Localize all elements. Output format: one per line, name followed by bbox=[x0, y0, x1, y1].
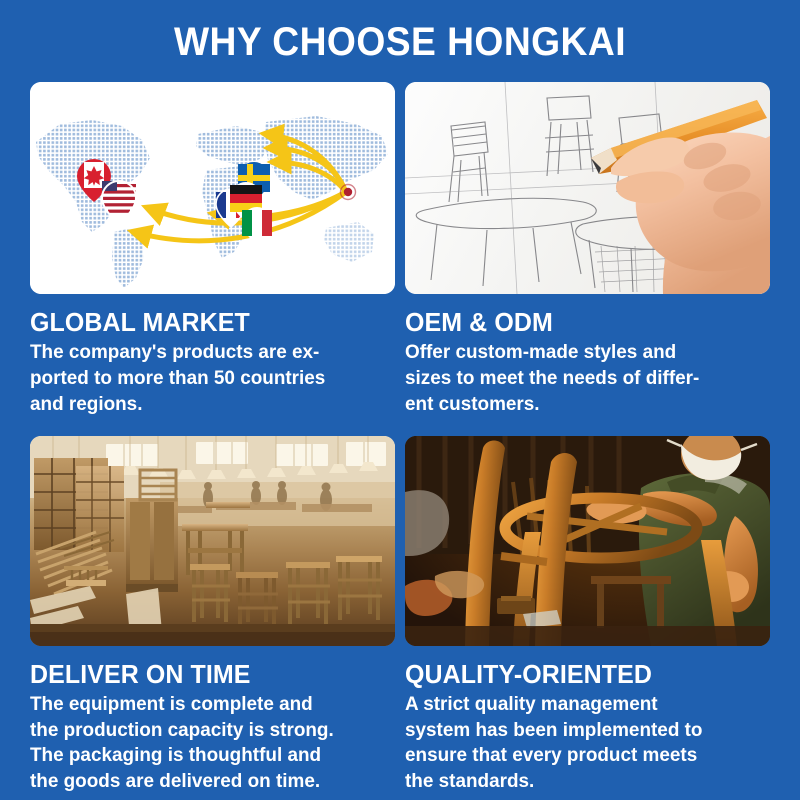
card-body: A strict quality management system has b… bbox=[405, 692, 759, 795]
cabinet bbox=[126, 498, 178, 592]
card-body-line: The company's products are ex- bbox=[30, 340, 384, 366]
craftsman-graphic bbox=[405, 436, 770, 646]
card-heading: DELIVER ON TIME bbox=[30, 661, 380, 688]
card-body-line: the production capacity is strong. bbox=[30, 718, 384, 744]
continent-oceania bbox=[318, 216, 383, 271]
card-body-line: A strict quality management bbox=[405, 692, 759, 718]
card-body-line: system has been implemented to bbox=[405, 718, 759, 744]
card-body-line: The equipment is complete and bbox=[30, 692, 384, 718]
card-body-line: and regions. bbox=[30, 392, 384, 418]
card-body-line: ported to more than 50 countries bbox=[30, 366, 384, 392]
craftsman-assembling-stool-image bbox=[405, 436, 770, 646]
flag-pin-italy bbox=[242, 207, 272, 245]
card-body: Offer custom-made styles and sizes to me… bbox=[405, 340, 759, 417]
continent-south-america bbox=[100, 222, 160, 294]
card-quality-oriented: QUALITY-ORIENTED A strict quality manage… bbox=[405, 418, 770, 795]
card-heading: QUALITY-ORIENTED bbox=[405, 661, 755, 688]
card-oem-odm: OEM & ODM Offer custom-made styles and s… bbox=[405, 82, 770, 418]
sketch-graphic bbox=[405, 82, 770, 294]
card-body-line: the standards. bbox=[405, 769, 759, 795]
card-body-line: Offer custom-made styles and bbox=[405, 340, 759, 366]
card-body-line: The packaging is thoughtful and bbox=[30, 743, 384, 769]
hand-holding-pencil bbox=[591, 100, 770, 294]
card-heading: OEM & ODM bbox=[405, 309, 755, 336]
card-deliver-on-time: DELIVER ON TIME The equipment is complet… bbox=[30, 418, 395, 795]
card-body: The equipment is complete and the produc… bbox=[30, 692, 384, 795]
card-body-line: sizes to meet the needs of differ- bbox=[405, 366, 759, 392]
card-body: The company's products are ex- ported to… bbox=[30, 340, 384, 417]
foreground-chairs bbox=[190, 556, 382, 626]
hand-sketching-furniture-designs-image bbox=[405, 82, 770, 294]
card-body-line: the goods are delivered on time. bbox=[30, 769, 384, 795]
feature-grid: GLOBAL MARKET The company's products are… bbox=[30, 82, 770, 795]
card-global-market: GLOBAL MARKET The company's products are… bbox=[30, 82, 395, 418]
origin-marker bbox=[344, 188, 352, 196]
continent-north-america bbox=[30, 112, 170, 282]
world-map-graphic bbox=[30, 82, 395, 294]
world-map-export-routes-image bbox=[30, 82, 395, 294]
workshop-floor bbox=[405, 626, 770, 646]
card-body-line: ensure that every product meets bbox=[405, 743, 759, 769]
card-heading: GLOBAL MARKET bbox=[30, 309, 380, 336]
page-title: WHY CHOOSE HONGKAI bbox=[28, 0, 772, 62]
background-bench bbox=[591, 576, 671, 628]
card-body-line: ent customers. bbox=[405, 392, 759, 418]
furniture-factory-workshop-image bbox=[30, 436, 395, 646]
factory-graphic bbox=[30, 436, 395, 646]
